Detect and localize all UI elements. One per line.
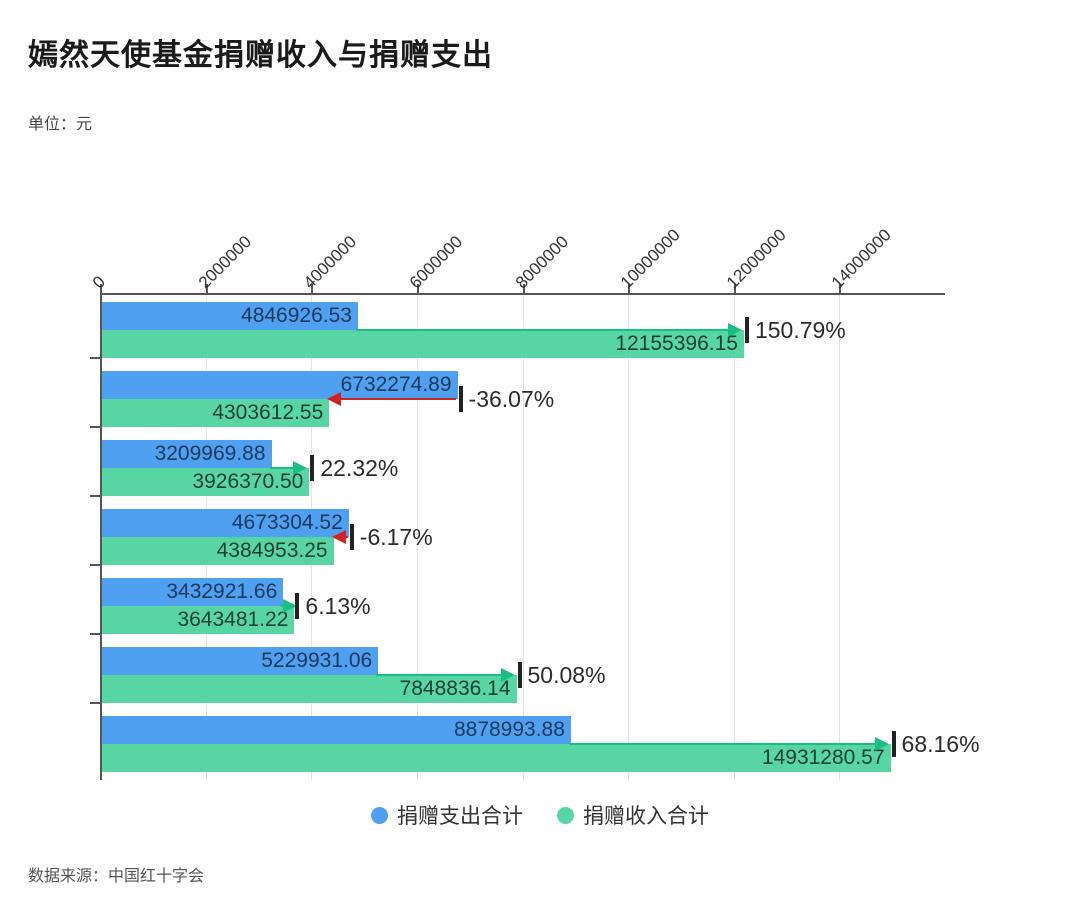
bar-value-label: 4846926.53 <box>241 304 352 328</box>
gridline <box>523 293 524 780</box>
y-axis-tick <box>90 426 100 428</box>
x-axis-tick-label: 10000000 <box>617 225 685 293</box>
x-axis-tick-label: 12000000 <box>723 225 791 293</box>
bar-expense-2018[interactable]: 4846926.53 <box>102 302 358 330</box>
bar-expense-2022[interactable]: 3432921.66 <box>102 578 283 606</box>
source-note: 数据来源：中国红十字会 <box>28 862 204 886</box>
bar-expense-2024[interactable]: 8878993.88 <box>102 716 571 744</box>
bar-value-label: 3209969.88 <box>155 442 266 466</box>
legend-dot-income <box>557 807 574 824</box>
chart-page: 嫣然天使基金捐赠收入与捐赠支出 单位：元 0200000040000006000… <box>0 0 1080 918</box>
x-axis-tick-label: 2000000 <box>194 232 255 293</box>
delta-percent-label: -6.17% <box>360 524 433 551</box>
bar-value-label: 5229931.06 <box>261 649 372 673</box>
bar-value-label: 4384953.25 <box>217 539 328 563</box>
gridline <box>839 293 840 780</box>
plot-area: 0200000040000006000000800000010000000120… <box>100 293 945 780</box>
arrowhead-right-icon <box>293 461 307 475</box>
bar-expense-2020[interactable]: 3209969.88 <box>102 440 272 468</box>
delta-arrow-line <box>569 743 876 745</box>
legend-dot-expense <box>371 807 388 824</box>
delta-end-marker <box>518 662 522 688</box>
x-axis-line <box>100 293 945 295</box>
delta-arrow-2020 <box>270 460 308 476</box>
delta-percent-label: 68.16% <box>902 731 980 758</box>
gridline <box>734 293 735 780</box>
delta-percent-label: 50.08% <box>528 662 606 689</box>
y-axis-tick <box>90 564 100 566</box>
x-axis-tick-label: 0 <box>89 272 110 293</box>
delta-arrow-line <box>376 674 501 676</box>
bar-income-2022[interactable]: 3643481.22 <box>102 606 294 634</box>
y-axis-tick <box>90 357 100 359</box>
delta-arrow-2018 <box>356 322 742 338</box>
y-axis-tick <box>90 495 100 497</box>
delta-percent-label: 6.13% <box>305 593 370 620</box>
page-title: 嫣然天使基金捐赠收入与捐赠支出 <box>28 30 493 74</box>
bar-value-label: 4303612.55 <box>212 401 323 425</box>
delta-percent-label: 150.79% <box>755 317 846 344</box>
arrowhead-right-icon <box>728 323 742 337</box>
legend-item-expense[interactable]: 捐赠支出合计 <box>371 800 523 830</box>
arrowhead-right-icon <box>875 737 889 751</box>
legend: 捐赠支出合计捐赠收入合计 <box>0 800 1080 830</box>
delta-arrow-2024 <box>569 736 889 752</box>
legend-label: 捐赠支出合计 <box>397 800 523 830</box>
x-axis-tick-label: 14000000 <box>828 225 896 293</box>
delta-arrow-2019 <box>327 391 455 407</box>
arrowhead-left-icon <box>327 392 341 406</box>
legend-label: 捐赠收入合计 <box>583 800 709 830</box>
bar-income-2019[interactable]: 4303612.55 <box>102 399 329 427</box>
delta-arrow-line <box>356 329 729 331</box>
bar-value-label: 3432921.66 <box>166 580 277 604</box>
delta-end-marker <box>350 524 354 550</box>
arrowhead-left-icon <box>332 530 346 544</box>
delta-end-marker <box>459 386 463 412</box>
bar-value-label: 3643481.22 <box>177 608 288 632</box>
delta-end-marker <box>892 731 896 757</box>
bar-value-label: 4673304.52 <box>232 511 343 535</box>
x-axis-tick-label: 4000000 <box>300 232 361 293</box>
delta-arrow-2021 <box>332 529 348 545</box>
x-axis-tick-label: 8000000 <box>511 232 572 293</box>
unit-label: 单位：元 <box>28 110 92 134</box>
gridline <box>628 293 629 780</box>
y-axis-tick <box>90 633 100 635</box>
bar-value-label: 8878993.88 <box>454 718 565 742</box>
arrowhead-right-icon <box>501 668 515 682</box>
delta-percent-label: -36.07% <box>469 386 555 413</box>
delta-arrow-line <box>340 398 455 400</box>
delta-end-marker <box>745 317 749 343</box>
bar-expense-2023[interactable]: 5229931.06 <box>102 647 378 675</box>
legend-item-income[interactable]: 捐赠收入合计 <box>557 800 709 830</box>
x-axis-tick-label: 6000000 <box>406 232 467 293</box>
bar-expense-2021[interactable]: 4673304.52 <box>102 509 349 537</box>
delta-end-marker <box>310 455 314 481</box>
delta-end-marker <box>295 593 299 619</box>
bar-income-2021[interactable]: 4384953.25 <box>102 537 334 565</box>
delta-percent-label: 22.32% <box>320 455 398 482</box>
delta-arrow-line <box>270 467 295 469</box>
y-axis-tick <box>90 702 100 704</box>
delta-arrow-2023 <box>376 667 514 683</box>
